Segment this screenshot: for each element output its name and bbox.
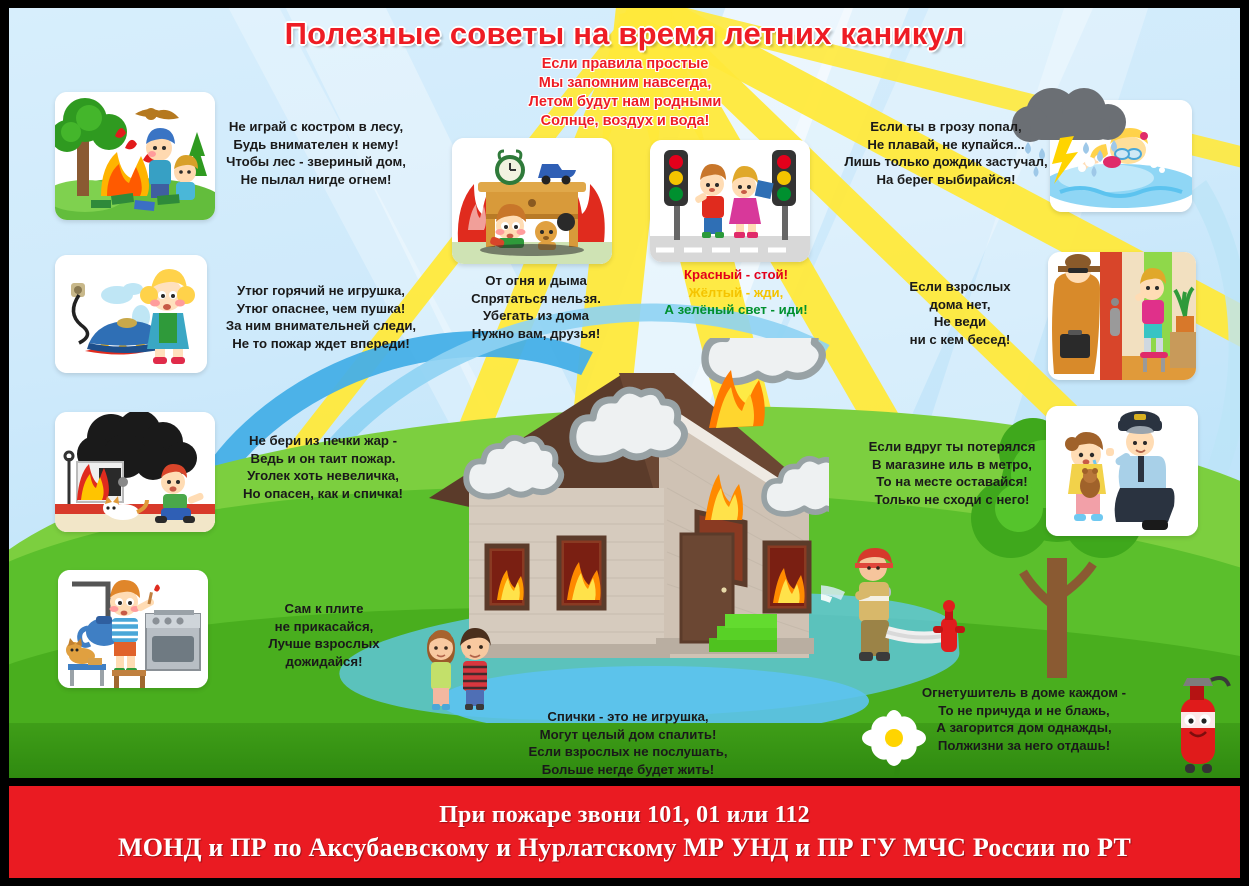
subtitle-line: Летом будут нам родными [455, 93, 795, 112]
verse-line: Чтобы лес - звериный дом, [218, 153, 414, 171]
verse-line-green: А зелёный свет - иди! [640, 301, 832, 319]
card-traffic-light [650, 140, 810, 262]
children-hiding-under-table-scene [452, 138, 612, 264]
verse-line: Не веди [880, 313, 1040, 331]
verse-line: Не играй с костром в лесу, [218, 118, 414, 136]
verse-line: То на месте оставайся! [852, 473, 1052, 491]
verse-extinguisher: Огнетушитель в доме каждом - То не причу… [908, 684, 1140, 754]
verse-line: Убегать из дома [448, 307, 624, 325]
verse-line: Если взрослых [880, 278, 1040, 296]
verse-line: Утюг опаснее, чем пушка! [208, 300, 434, 318]
verse-line: Будь внимателен к нему! [218, 136, 414, 154]
verse-stove-coals: Не бери из печки жар - Ведь и он таит по… [212, 432, 434, 502]
card-stranger-door [1048, 252, 1196, 380]
verse-iron: Утюг горячий не игрушка, Утюг опаснее, ч… [208, 282, 434, 352]
subtitle-line: Солнце, воздух и вода! [455, 112, 795, 131]
verse-line: Ведь и он таит пожар. [212, 450, 434, 468]
card-table-fire [452, 138, 612, 264]
subtitle-line: Мы запомним навсегда, [455, 74, 795, 93]
verse-line: От огня и дыма [448, 272, 624, 290]
verse-line: Спички - это не игрушка, [492, 708, 764, 726]
verse-line: Полжизни за него отдашь! [908, 737, 1140, 755]
verse-line: Утюг горячий не игрушка, [208, 282, 434, 300]
verse-line: Если вдруг ты потерялся [852, 438, 1052, 456]
forest-campfire-scene [55, 92, 215, 220]
verse-line: Огнетушитель в доме каждом - [908, 684, 1140, 702]
verse-campfire: Не играй с костром в лесу, Будь внимател… [218, 118, 414, 188]
verse-line: Если взрослых не послушать, [492, 743, 764, 761]
card-gas-stove [58, 570, 208, 688]
verse-line: Могут целый дом спалить! [492, 726, 764, 744]
children-watching-illustration [409, 620, 529, 716]
poster-subtitle: Если правила простые Мы запомним навсегд… [455, 55, 795, 131]
verse-line: Нужно вам, друзья! [448, 325, 624, 343]
emergency-phone-line: При пожаре звони 101, 01 или 112 [439, 802, 810, 829]
hot-iron-fire-scene [55, 255, 207, 373]
verse-hide-from-fire: От огня и дыма Спрятаться нельзя. Убегат… [448, 272, 624, 342]
children-crossing-road-scene [650, 140, 810, 262]
verse-line: Не бери из печки жар - [212, 432, 434, 450]
verse-line: ни с кем бесед! [880, 331, 1040, 349]
boy-at-gas-stove-scene [58, 570, 208, 688]
firefighter-illustration [821, 540, 971, 680]
card-campfire [55, 92, 215, 220]
agency-line: МОНД и ПР по Аксубаевскому и Нурлатскому… [118, 833, 1131, 863]
lost-girl-with-policeman-scene [1046, 406, 1198, 536]
verse-line-red: Красный - стой! [640, 266, 832, 284]
card-lost-child [1046, 406, 1198, 536]
fire-extinguisher-mascot [1159, 668, 1239, 778]
verse-line: дома нет, [880, 296, 1040, 314]
verse-line: дожидайся! [228, 653, 420, 671]
poster-root: Полезные советы на время летних каникул … [0, 0, 1249, 886]
verse-line: То не причуда и не блажь, [908, 702, 1140, 720]
verse-line: Лучше взрослых [228, 635, 420, 653]
verse-line: Но опасен, как и спичка! [212, 485, 434, 503]
verse-line: Лишь только дождик застучал, [840, 153, 1052, 171]
card-iron [55, 255, 207, 373]
stranger-at-door-scene [1048, 252, 1196, 380]
poster-title: Полезные советы на время летних каникул [0, 16, 1249, 52]
verse-storm-swim: Если ты в грозу попал, Не плавай, не куп… [840, 118, 1052, 188]
verse-line: Больше негде будет жить! [492, 761, 764, 779]
verse-line: Сам к плите [228, 600, 420, 618]
verse-traffic-light: Красный - стой! Жёлтый - жди, А зелёный … [640, 266, 832, 319]
verse-line: Если ты в грозу попал, [840, 118, 1052, 136]
verse-line: А загорится дом однажды, [908, 719, 1140, 737]
verse-line-yellow: Жёлтый - жди, [640, 284, 832, 302]
card-stove-coals [55, 412, 215, 532]
emergency-banner: При пожаре звони 101, 01 или 112 МОНД и … [9, 786, 1240, 878]
verse-lost-child: Если вдруг ты потерялся В магазине иль в… [852, 438, 1052, 508]
subtitle-line: Если правила простые [455, 55, 795, 74]
verse-line: Спрятаться нельзя. [448, 290, 624, 308]
verse-line: Не то пожар ждет впереди! [208, 335, 434, 353]
stove-smoke-scene [55, 412, 215, 532]
verse-stranger-door: Если взрослых дома нет, Не веди ни с кем… [880, 278, 1040, 348]
verse-line: На берег выбирайся! [840, 171, 1052, 189]
verse-line: Только не сходи с него! [852, 491, 1052, 509]
verse-line: Уголек хоть невеличка, [212, 467, 434, 485]
verse-line: не прикасайся, [228, 618, 420, 636]
verse-gas-stove: Сам к плите не прикасайся, Лучше взрослы… [228, 600, 420, 670]
verse-line: В магазине иль в метро, [852, 456, 1052, 474]
verse-matches: Спички - это не игрушка, Могут целый дом… [492, 708, 764, 778]
verse-line: Не плавай, не купайся... [840, 136, 1052, 154]
verse-line: Не пылал нигде огнем! [218, 171, 414, 189]
verse-line: За ним внимательней следи, [208, 317, 434, 335]
